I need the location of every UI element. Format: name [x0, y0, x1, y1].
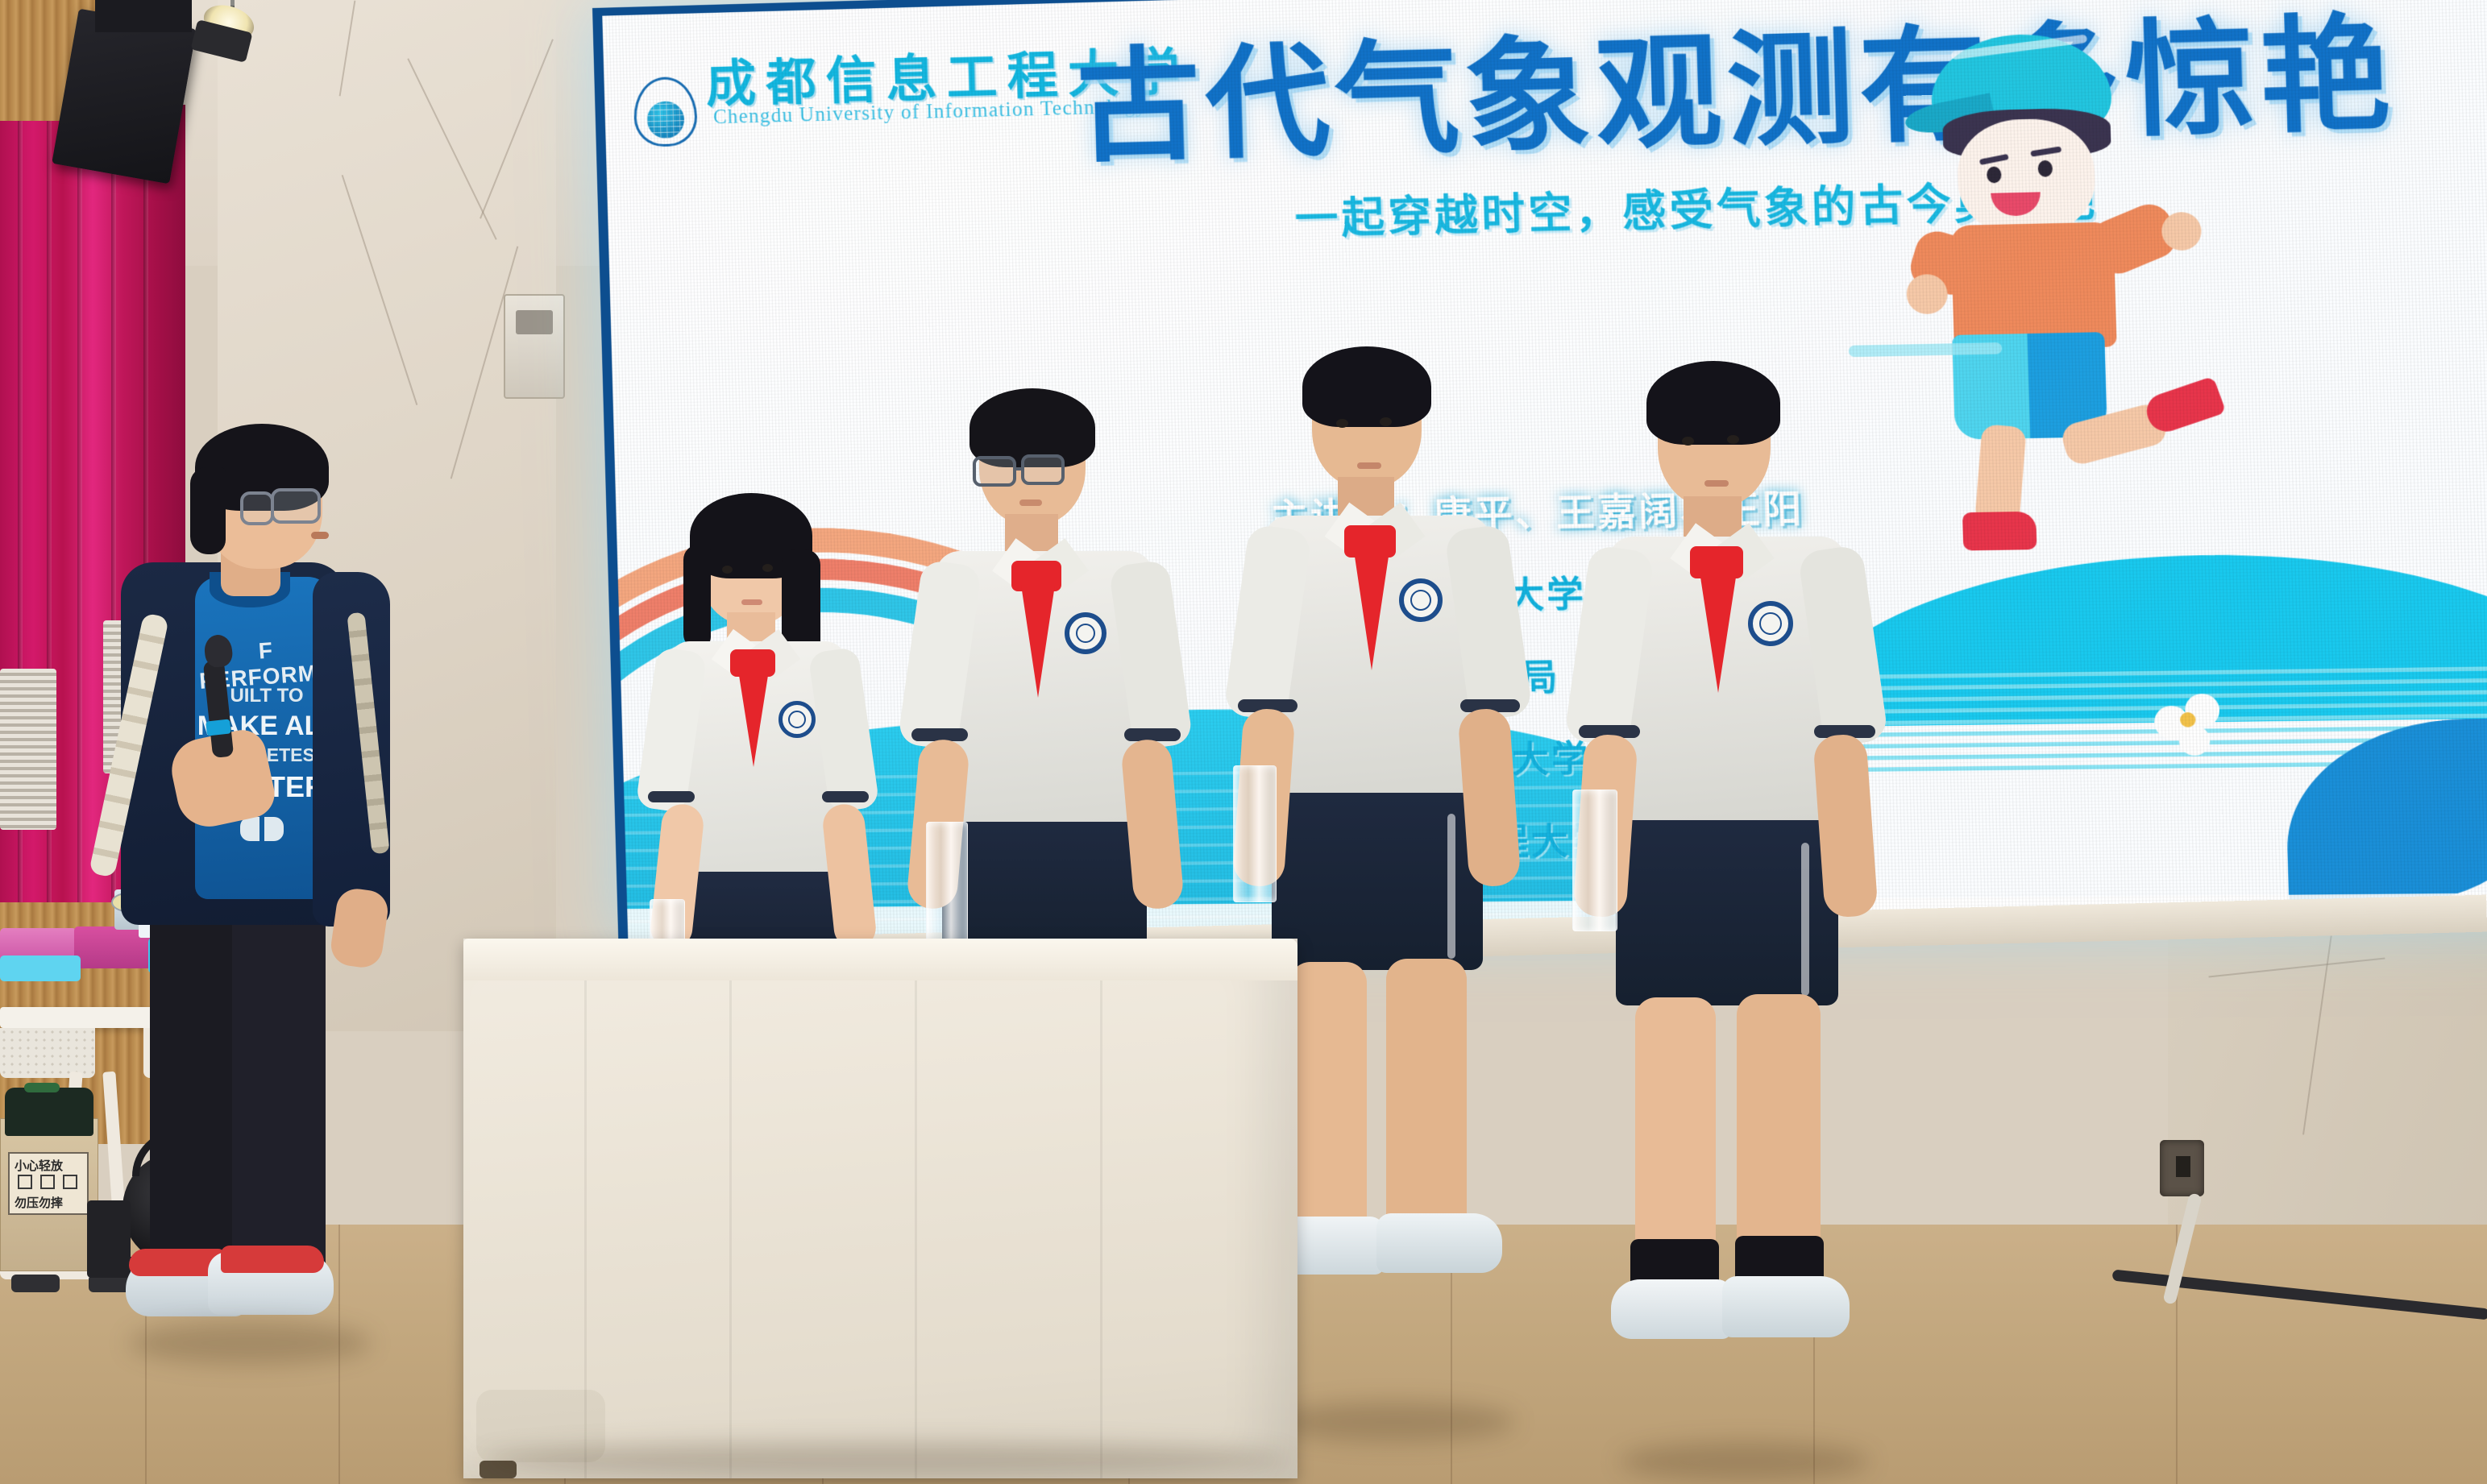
glasses-lens-right [1021, 454, 1065, 485]
carton-text-bottom: 勿压勿摔 [15, 1194, 63, 1211]
student-3-leg-right [1386, 959, 1467, 1239]
speaker-mount [95, 0, 192, 32]
student-3-leg-left [1289, 962, 1367, 1239]
under-armour-logo-icon [240, 817, 287, 841]
student-3-eye-left [1336, 419, 1348, 428]
student-4-eye-left [1682, 437, 1694, 446]
student-3-shadow [1273, 1402, 1515, 1442]
student-3-shoe-right [1376, 1213, 1502, 1273]
presenter-leg-right [232, 899, 326, 1278]
student-4-leg-left [1635, 997, 1716, 1271]
list-item [0, 955, 81, 981]
presenter-leg-left [150, 902, 240, 1273]
led-presentation-screen: 成都信息工程大学 Chengdu University of Informati… [592, 0, 2487, 943]
student-4-shoe-left [1611, 1279, 1732, 1339]
student-3-mouth [1357, 462, 1381, 469]
student-4-hair [1646, 361, 1780, 445]
student-4-shoe-right [1722, 1276, 1850, 1337]
cuit-logo-icon [633, 77, 698, 147]
table-top-edge [463, 939, 1297, 980]
shoe-right [2141, 376, 2226, 437]
glass-cylinder [1233, 765, 1277, 902]
hand-right [2161, 212, 2203, 251]
student-2-cuff-right [1124, 728, 1181, 741]
student-1-mouth [741, 599, 762, 605]
student-3-shorts-stripe [1447, 814, 1455, 959]
student-1-eye-left [722, 566, 733, 574]
carton-text-top: 小心轻放 [15, 1157, 63, 1174]
flower-petal [2178, 725, 2211, 756]
student-4-shorts-stripe [1801, 843, 1809, 996]
presenter-mouth [311, 532, 329, 539]
presenter-sideburn [190, 467, 226, 554]
badge-inner [788, 711, 806, 728]
student-2-mouth [1019, 500, 1042, 506]
wall-outlet-slot [2176, 1156, 2190, 1177]
badge-inner [1410, 590, 1431, 611]
desk-foot [11, 1275, 60, 1292]
hand-left [1906, 274, 1948, 314]
shoe-left [1962, 512, 2037, 551]
table-shadow [484, 1442, 1289, 1478]
student-4-leg-right [1737, 994, 1821, 1271]
presenter: F PERFORMANCE UILT TO MAKE ALL ATHLETES … [121, 419, 459, 1450]
keep-dry-icon [63, 1175, 77, 1189]
glass-cylinder [1572, 790, 1617, 931]
wall-control-panel-slot [516, 310, 553, 334]
student-4-shadow [1620, 1442, 1870, 1481]
student-3-eye-right [1380, 417, 1392, 426]
student-1-cuff-left [648, 791, 695, 802]
fragile-icon [18, 1175, 32, 1189]
student-1-cuff-right [822, 791, 869, 802]
cartoon-boy-running-icon [1891, 20, 2266, 576]
student-4-eye-right [1727, 435, 1739, 444]
desk-basket [0, 1028, 95, 1078]
student-4-mouth [1704, 480, 1729, 487]
draped-demo-table [463, 939, 1297, 1478]
student-1-eye-right [762, 564, 773, 572]
presenter-shadow [129, 1321, 371, 1365]
student-1 [661, 508, 870, 959]
bag-handle [24, 1083, 60, 1092]
glasses-lens-left [973, 456, 1016, 487]
glasses-bridge [1016, 467, 1024, 470]
black-bag [5, 1088, 93, 1136]
glass-cylinder [926, 822, 968, 951]
microphone-band [206, 719, 231, 736]
presenter-shoe-right-stripe [221, 1246, 324, 1273]
student-1-hair-side [683, 545, 711, 649]
glasses-lens-left [240, 491, 274, 525]
wall-vent [0, 669, 56, 830]
flower-center [2180, 712, 2196, 727]
student-3-hair [1302, 346, 1431, 427]
badge-inner [1759, 612, 1782, 635]
badge-inner [1076, 624, 1095, 643]
no-stack-icon [40, 1175, 55, 1189]
screenshot-root: 成都信息工程大学 Chengdu University of Informati… [0, 0, 2487, 1484]
student-4 [1600, 379, 1866, 1482]
face [1956, 118, 2096, 237]
student-2 [931, 403, 1173, 967]
glasses-lens-right [271, 488, 321, 524]
